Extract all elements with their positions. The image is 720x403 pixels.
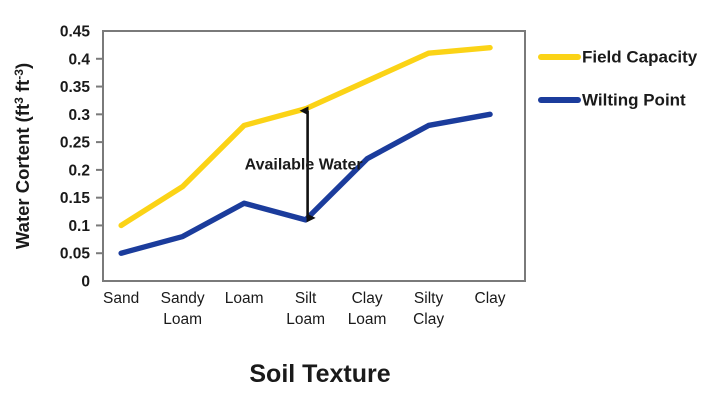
legend-label-wilting-point: Wilting Point [582,90,686,109]
y-axis-tick-label: 0.3 [68,107,90,124]
y-axis-tick-label: 0.05 [60,246,91,263]
x-axis-category-label: Loam [286,311,325,328]
x-axis-category-label: Sandy [161,290,205,307]
x-axis-category-label: Silt [295,290,317,307]
svg-text:Water Cortent (ft3 ft-3): Water Cortent (ft3 ft-3) [12,63,33,249]
y-axis-tick-label: 0 [81,274,90,291]
y-axis-tick-label: 0.45 [60,24,91,41]
x-axis-title: Soil Texture [249,360,390,388]
available-water-label: Available Water [245,157,363,174]
chart-canvas: 00.050.10.150.20.250.30.350.40.45 Availa… [0,0,720,403]
y-axis-tick-label: 0.35 [60,79,91,96]
soil-water-content-chart: 00.050.10.150.20.250.30.350.40.45 Availa… [0,0,720,403]
x-axis-category-label: Sand [103,290,139,307]
x-axis-category-label: Loam [163,311,202,328]
x-axis-category-label: Clay [475,290,506,307]
y-axis-tick-label: 0.2 [68,162,90,179]
x-axis-category-label: Loam [225,290,264,307]
y-axis-tick-label: 0.4 [68,51,90,68]
x-axis-category-label: Clay [413,311,444,328]
y-axis-title: Water Cortent (ft3 ft-3) [12,63,33,249]
x-axis-category-label: Clay [352,290,383,307]
y-axis-tick-label: 0.1 [68,218,90,235]
x-axis-category-label: Loam [348,311,387,328]
y-axis-tick-label: 0.15 [60,190,91,207]
y-axis-tick-label: 0.25 [60,135,91,152]
legend-label-field-capacity: Field Capacity [582,47,698,66]
x-axis-category-label: Silty [414,290,444,307]
